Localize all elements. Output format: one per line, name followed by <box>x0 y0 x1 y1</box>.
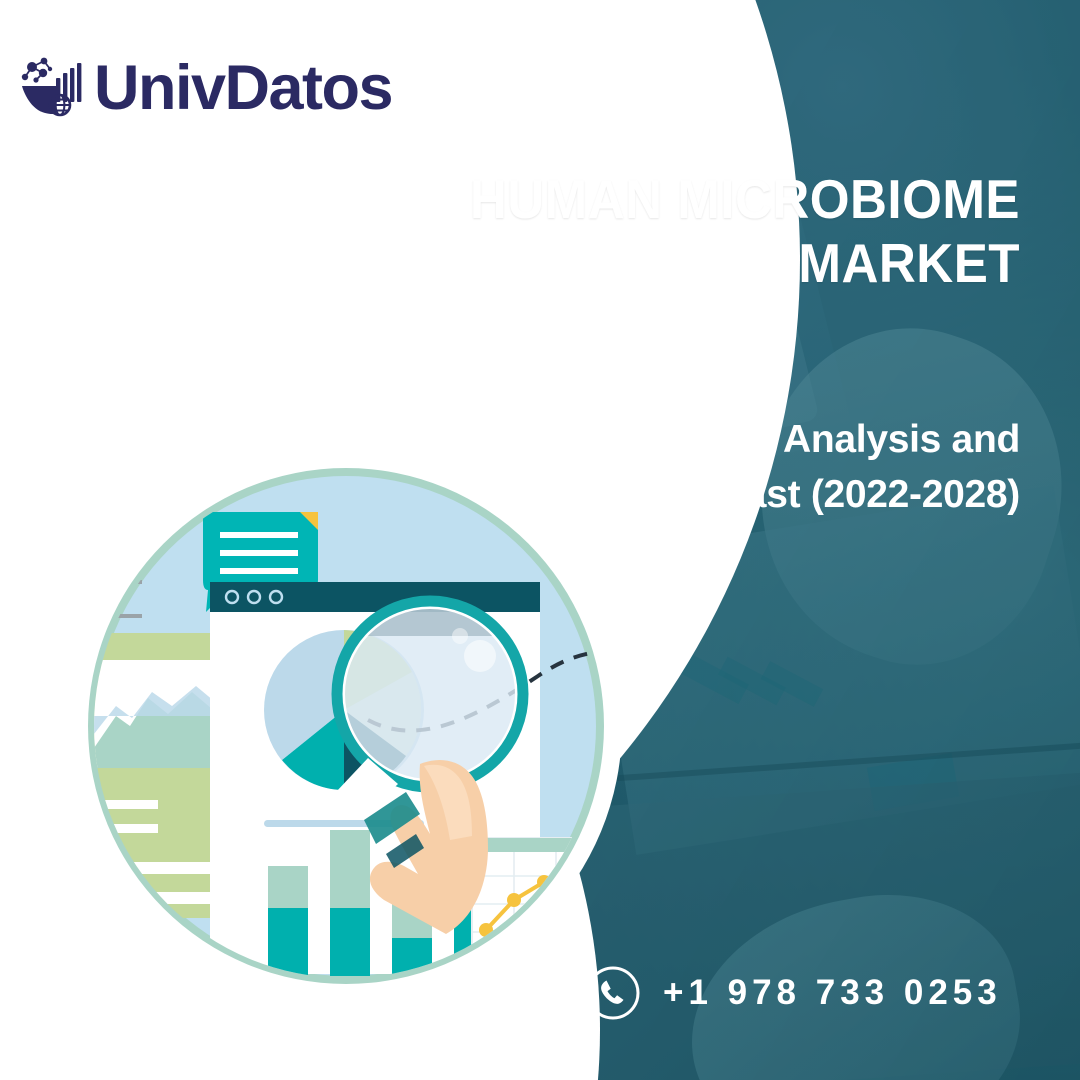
phone-number: +1 978 733 0253 <box>663 973 1002 1013</box>
page-title-line-2: MARKET <box>425 232 1020 296</box>
brand-logo[interactable]: UnivDatos <box>16 52 392 124</box>
univdatos-globe-bars-icon <box>16 52 88 124</box>
contact-phone[interactable]: +1 978 733 0253 <box>585 965 1002 1021</box>
page-title: HUMAN MICROBIOME MARKET <box>425 168 1020 296</box>
poster-canvas: UnivDatos HUMAN MICROBIOME MARKET Curren… <box>0 0 1080 1080</box>
brand-name: UnivDatos <box>94 57 392 120</box>
page-title-line-1: HUMAN MICROBIOME <box>425 168 1020 232</box>
data-analysis-illustration <box>68 448 624 1004</box>
